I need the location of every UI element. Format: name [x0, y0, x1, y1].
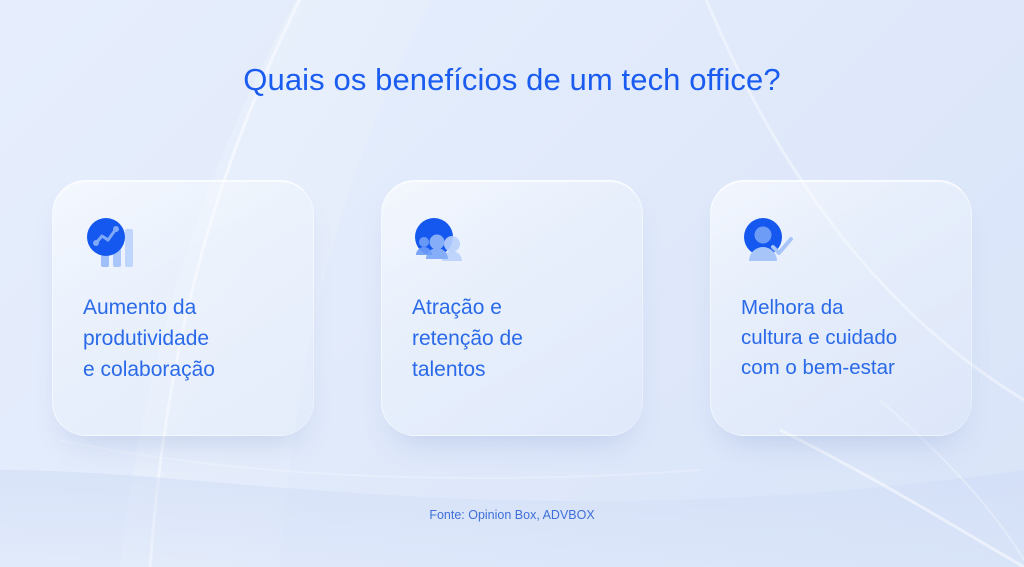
growth-chart-icon [83, 217, 145, 267]
benefit-card-text: Melhora da cultura e cuidado com o bem-e… [741, 293, 943, 383]
benefit-card-produtividade[interactable]: Aumento da produtividade e colaboração [52, 180, 314, 436]
person-check-icon [741, 217, 803, 267]
benefit-card-talentos[interactable]: Atração e retenção de talentos [381, 180, 643, 436]
benefit-card-text: Atração e retenção de talentos [412, 293, 614, 386]
source-attribution: Fonte: Opinion Box, ADVBOX [0, 508, 1024, 522]
benefit-card-list: Aumento da produtividade e colaboração A… [52, 180, 972, 436]
benefit-card-bem-estar[interactable]: Melhora da cultura e cuidado com o bem-e… [710, 180, 972, 436]
page-title: Quais os benefícios de um tech office? [0, 62, 1024, 98]
benefit-card-text: Aumento da produtividade e colaboração [83, 293, 285, 386]
slide-canvas: Quais os benefícios de um tech office? A… [0, 0, 1024, 567]
people-group-icon [412, 217, 474, 267]
